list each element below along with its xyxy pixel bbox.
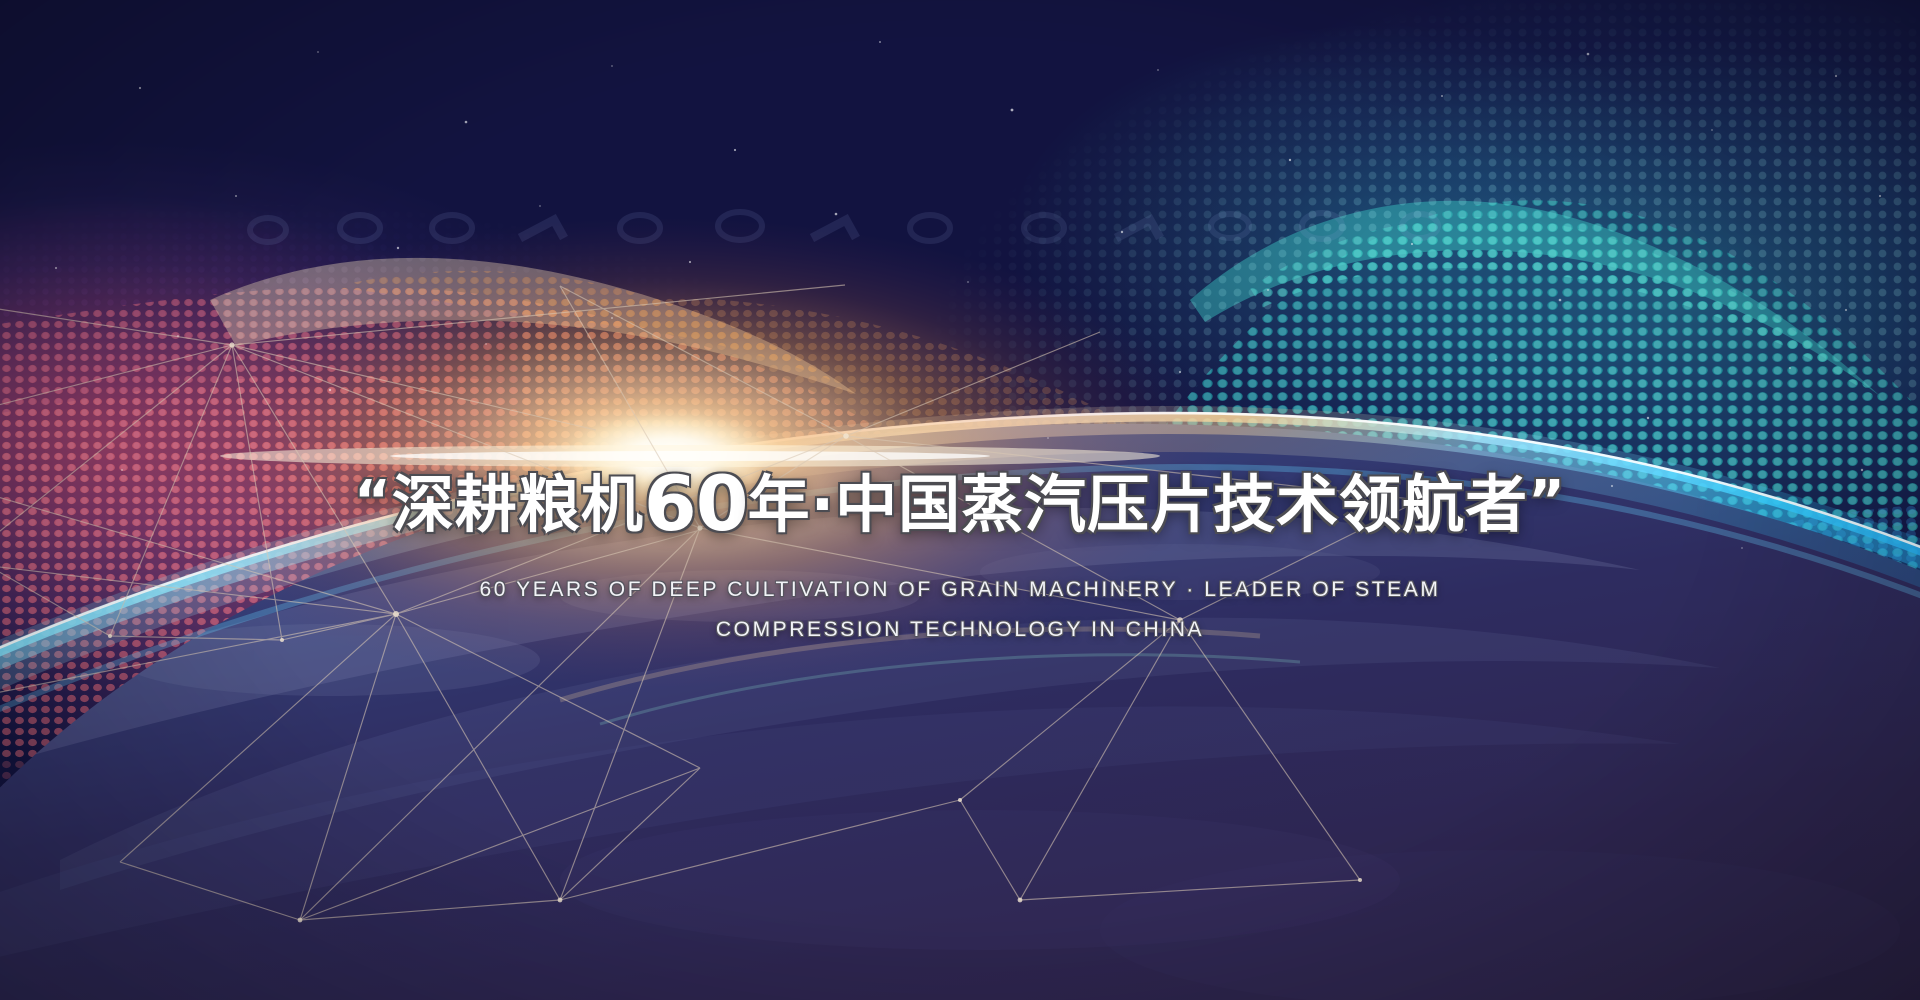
subtitle-line-2: COMPRESSION TECHNOLOGY IN CHINA (0, 618, 1920, 642)
hero-text-block: “深耕粮机60年·中国蒸汽压片技术领航者” 60 YEARS OF DEEP C… (0, 466, 1920, 642)
open-quote: “ (354, 469, 392, 534)
close-quote: ” (1528, 469, 1566, 534)
hero-banner: “深耕粮机60年·中国蒸汽压片技术领航者” 60 YEARS OF DEEP C… (0, 0, 1920, 1000)
page-title: “深耕粮机60年·中国蒸汽压片技术领航者” (0, 466, 1920, 542)
title-number-60: 60 (644, 459, 748, 548)
title-segment-1: 深耕粮机 (392, 468, 644, 541)
title-segment-2: 年·中国蒸汽压片技术领航者 (748, 468, 1529, 541)
subtitle-line-1: 60 YEARS OF DEEP CULTIVATION OF GRAIN MA… (0, 578, 1920, 602)
